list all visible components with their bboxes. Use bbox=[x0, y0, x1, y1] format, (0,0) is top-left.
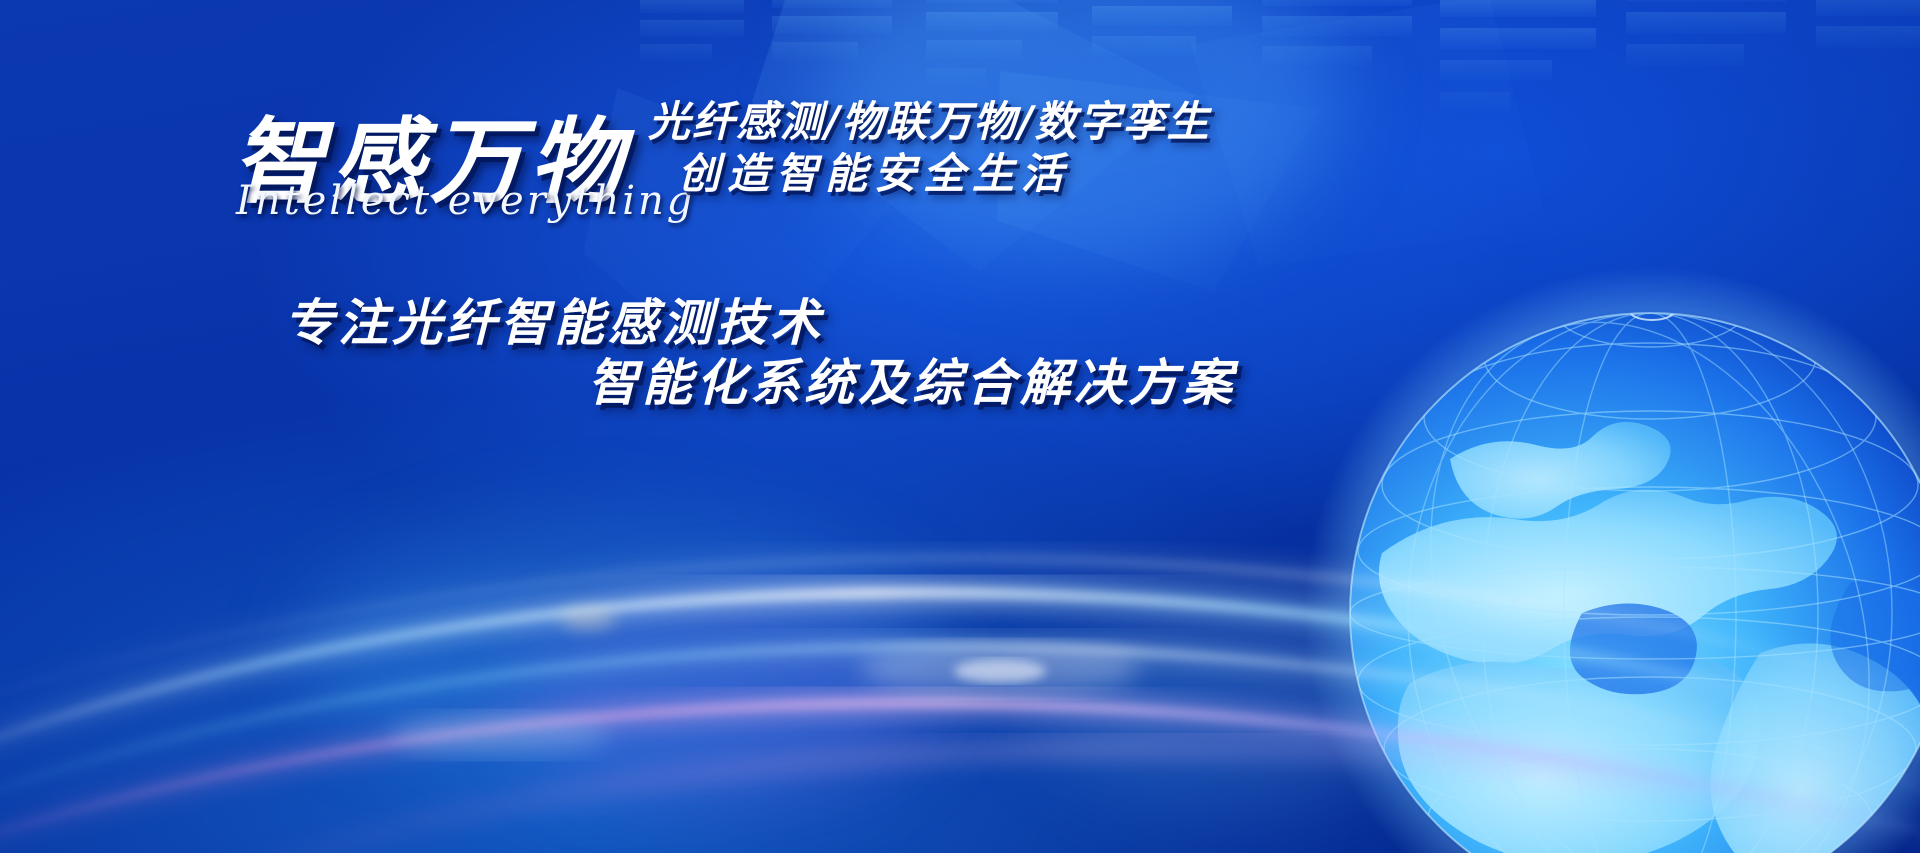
subline-2: 智能化系统及综合解决方案 bbox=[588, 343, 1236, 415]
tagline-line-2: 创造智能安全生活 bbox=[678, 140, 1070, 201]
banner-text-layer: 智感万物 Intellect everything 光纤感测/物联万物/数字孪生… bbox=[0, 0, 1920, 853]
hero-banner: 智感万物 Intellect everything 光纤感测/物联万物/数字孪生… bbox=[0, 0, 1920, 853]
page-subtitle-english: Intellect everything bbox=[236, 178, 695, 224]
